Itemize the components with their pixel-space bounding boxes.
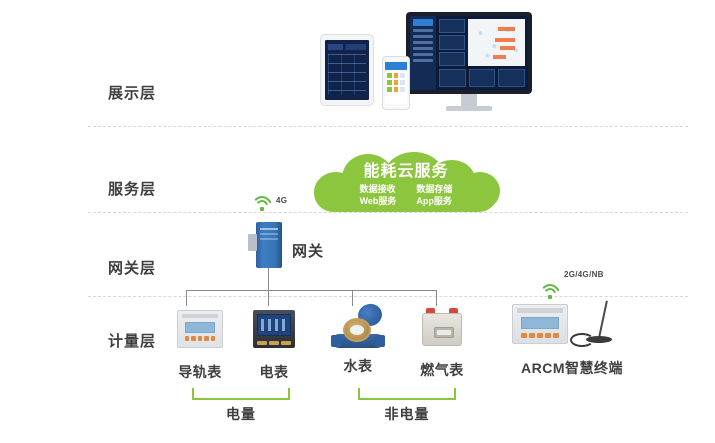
gas-meter-icon [394,308,490,354]
cloud-service-item-1: 数据存储 [416,183,452,195]
arcm-network-label: 2G/4G/NB [564,270,604,279]
smartphone-device [382,56,410,110]
bracket-electric-group [192,388,290,400]
meter-gas: 燃气表 [394,304,490,380]
meter-electric: 电表 [226,304,322,382]
arcm-wifi-icon [540,284,560,300]
antenna-cable [570,333,594,347]
bracket-label-non-electric: 非电量 [358,404,456,424]
gateway-port [248,234,257,251]
cloud-service-item-2: Web服务 [360,195,397,207]
gateway-wifi-icon [252,196,272,212]
electric-meter-icon [226,310,322,356]
cloud-title: 能耗云服务 [363,163,448,181]
smartphone-screen [385,62,407,104]
gateway-device-label: 网关 [292,240,324,261]
cloud-service-item-0: 数据接收 [360,183,397,195]
arcm-smart-terminal: ARCM智慧终端 [492,300,652,378]
gateway-device-body [256,222,282,268]
energy-cloud-service: 能耗云服务 数据接收 数据存储 Web服务 App服务 [308,152,504,214]
layer-label-service: 服务层 [108,178,198,199]
layer-divider-display-service [88,126,688,127]
arcm-terminal-label: ARCM智慧终端 [492,358,652,378]
connector-gateway-stem [268,268,269,290]
arcm-terminal-icon [492,300,652,350]
layer-label-gateway: 网关层 [108,257,198,278]
display-layer-devices [310,12,540,117]
bracket-non-electric-group [358,388,456,400]
tablet-device [320,34,374,106]
cloud-service-item-3: App服务 [416,195,452,207]
meter-label-electric: 电表 [226,362,322,382]
monitor-stat-cards [439,19,465,66]
meter-water: 水表 [310,304,406,376]
connector-bus [186,290,436,291]
monitor-bezel [406,12,532,94]
tablet-screen [325,40,369,100]
monitor-stand-foot [446,106,492,111]
gateway-network-label: 4G [276,196,287,205]
meter-label-gas: 燃气表 [394,360,490,380]
antenna-icon [598,301,608,339]
monitor-dashboard [436,16,528,90]
monitor-screen [410,16,528,90]
monitor-map-panel [468,19,525,66]
water-meter-icon [310,304,406,350]
monitor-dashboard-bottom [439,69,525,87]
layer-divider-gateway-metering [88,296,688,297]
monitor-stand-neck [461,94,477,106]
smartphone-app-grid [387,73,405,102]
monitor-dashboard-top [439,19,525,66]
gateway-device [248,222,288,268]
monitor-device [406,12,532,94]
monitor-sidebar [410,16,436,90]
cloud-service-list: 数据接收 数据存储 Web服务 App服务 [360,183,453,207]
cloud-text-block: 能耗云服务 数据接收 数据存储 Web服务 App服务 [308,152,504,214]
meter-label-water: 水表 [310,356,406,376]
layer-label-display: 展示层 [108,82,198,103]
bracket-label-electric: 电量 [192,404,290,424]
